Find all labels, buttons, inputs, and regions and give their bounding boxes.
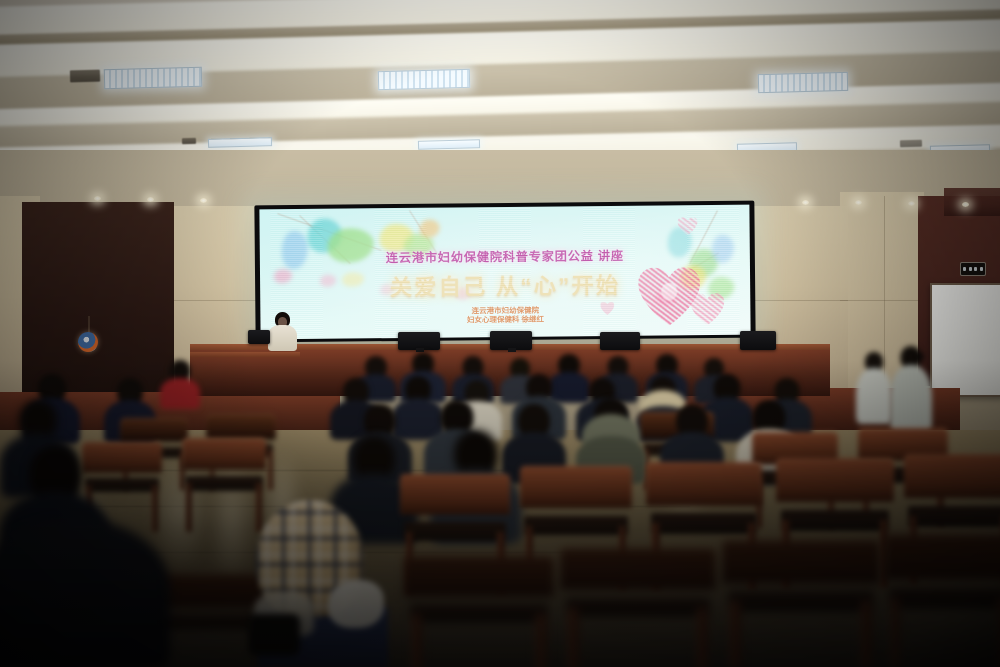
- ceiling-light-panel: [208, 137, 272, 148]
- air-vent: [70, 70, 100, 83]
- air-vent: [900, 140, 922, 148]
- screen-main-title: 关爱自己 从“心”开始: [260, 267, 750, 304]
- attendee-knit-sweater-right: [856, 352, 892, 422]
- lecture-hall-photo: 连云港市妇幼保健院科普专家团公益 讲座 关爱自己 从“心”开始 连云港市妇幼保健…: [0, 0, 1000, 667]
- monitor-stand: [508, 348, 516, 352]
- torso: [160, 378, 200, 409]
- screen-surface: 连云港市妇幼保健院科普专家团公益 讲座 关爱自己 从“心”开始 连云港市妇幼保健…: [259, 205, 750, 340]
- attendee-plaid-hood: [248, 496, 384, 667]
- torso: [856, 368, 892, 424]
- spot-light: [908, 201, 915, 206]
- chair[interactable]: [884, 534, 1000, 667]
- desk-monitor-4: [740, 331, 776, 350]
- attendee-foreground-left: [0, 520, 170, 667]
- presenter-body: [268, 325, 297, 351]
- spot-light: [962, 202, 969, 207]
- ceiling-light-panel: [104, 67, 202, 90]
- circular-emblem: [78, 332, 98, 352]
- presenter-laptop: [248, 330, 270, 344]
- spot-light: [147, 197, 154, 202]
- ceiling-light-panel: [378, 69, 470, 90]
- ceiling-light-panel: [418, 139, 480, 150]
- desk-monitor-3: [600, 332, 640, 350]
- right-maroon-wall-upper: [944, 188, 1000, 216]
- air-vent: [182, 138, 196, 144]
- white-scarf: [328, 580, 384, 628]
- attendee-knit-sweater-right-2: [890, 346, 932, 432]
- spot-light: [802, 200, 809, 205]
- spot-light: [200, 198, 207, 203]
- av-control-panel[interactable]: [960, 262, 986, 276]
- hair-bun: [915, 352, 924, 361]
- chair[interactable]: [560, 548, 716, 667]
- whiteboard[interactable]: [930, 283, 1000, 397]
- spot-light: [94, 196, 101, 201]
- chair[interactable]: [404, 556, 554, 667]
- chair[interactable]: [722, 540, 880, 667]
- spot-light: [855, 200, 862, 205]
- torso: [890, 365, 932, 433]
- ceiling-light-panel: [758, 72, 848, 93]
- dark-bag: [248, 614, 300, 656]
- led-presentation-screen[interactable]: 连云港市妇幼保健院科普专家团公益 讲座 关爱自己 从“心”开始 连云港市妇幼保健…: [254, 201, 755, 343]
- attendee-red-top: [160, 360, 200, 408]
